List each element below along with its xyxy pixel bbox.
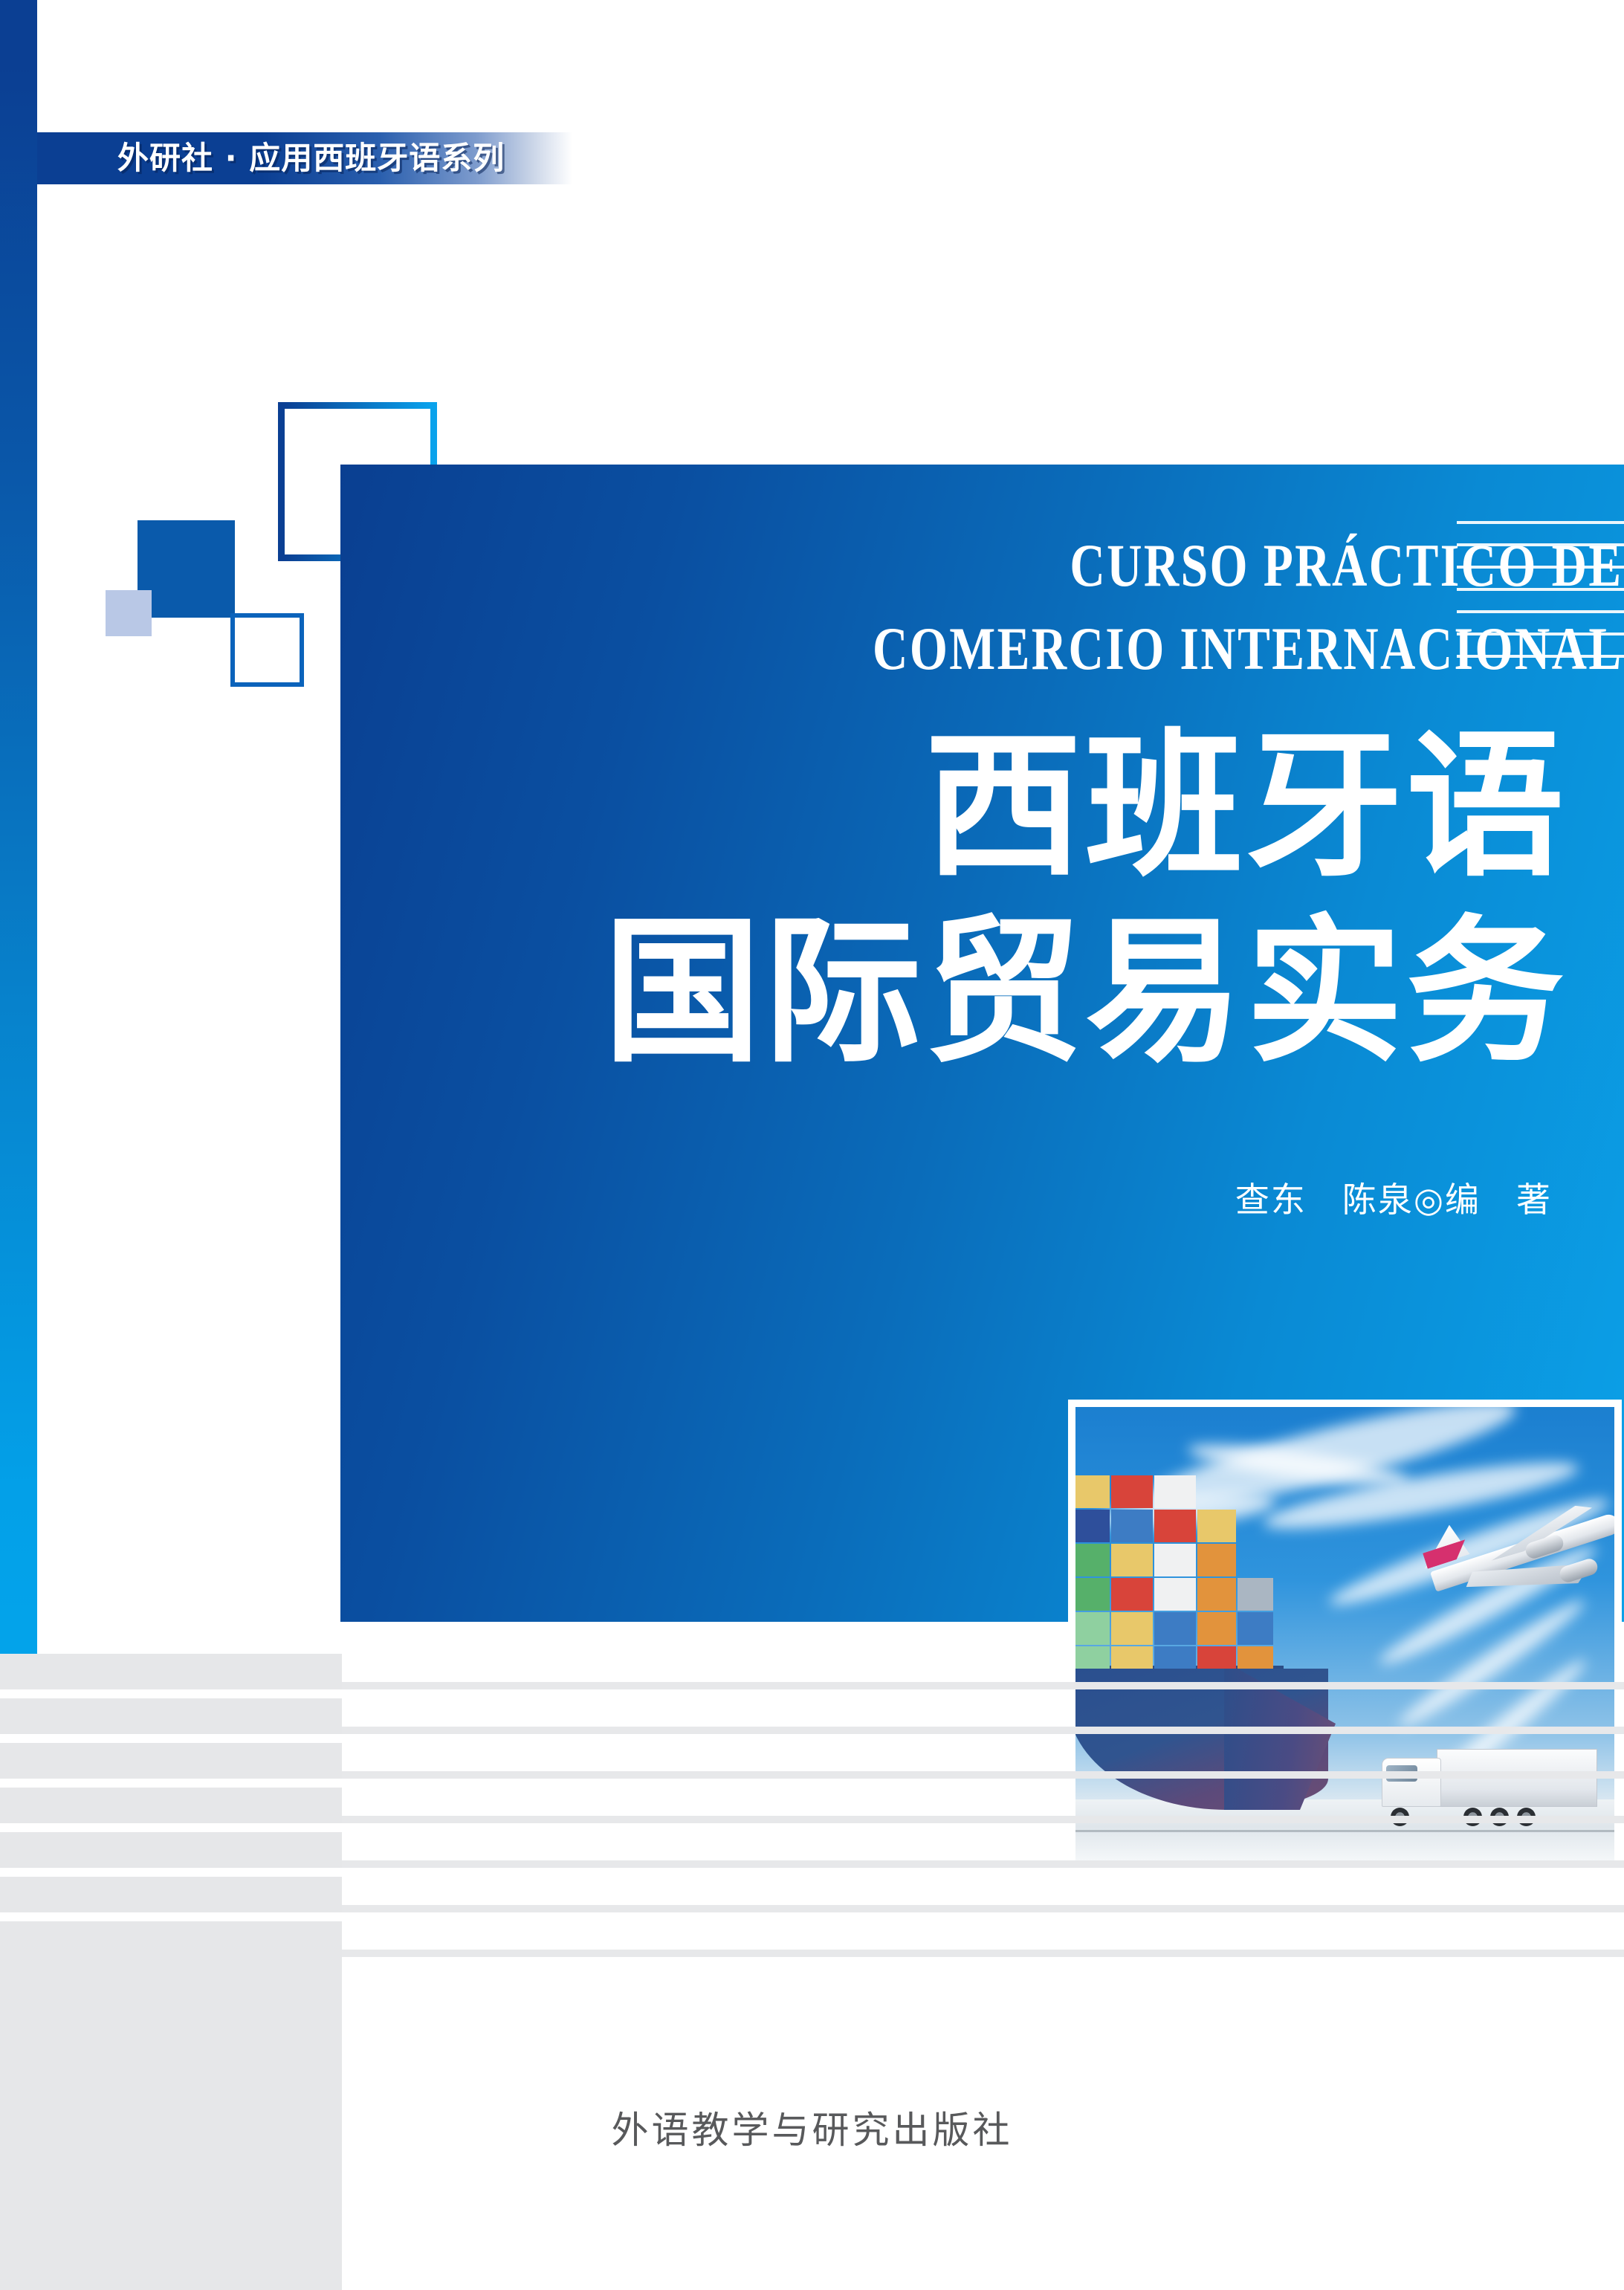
book-cover: 外研社 · 应用西班牙语系列 CURSO PRÁCTICO DE COMERCI…: [0, 0, 1624, 2290]
stripe-group-right: [342, 1618, 1624, 2290]
decorative-square-solid-mid: [138, 520, 235, 618]
bottom-stripe-field: [0, 1618, 1624, 2290]
decorative-square-pale: [106, 590, 152, 636]
decorative-square-outline-small: [230, 613, 304, 687]
author-credit: 查东 陈泉◎编 著: [340, 1173, 1552, 1222]
publisher-name: 外语教学与研究出版社: [0, 2100, 1624, 2154]
chinese-title-line-1: 西班牙语: [340, 714, 1567, 899]
series-banner-label: 外研社 · 应用西班牙语系列: [117, 138, 505, 179]
chinese-title: 西班牙语 国际贸易实务: [340, 714, 1567, 1085]
spanish-title-line-1: CURSO PRÁCTICO DE: [612, 524, 1623, 607]
spanish-title-line-2: COMERCIO INTERNACIONAL: [612, 607, 1623, 690]
airplane-icon: [1414, 1500, 1622, 1619]
spanish-title: CURSO PRÁCTICO DE COMERCIO INTERNACIONAL: [612, 524, 1624, 690]
chinese-title-line-2: 国际贸易实务: [340, 899, 1567, 1085]
left-accent-bar: [0, 0, 37, 1618]
